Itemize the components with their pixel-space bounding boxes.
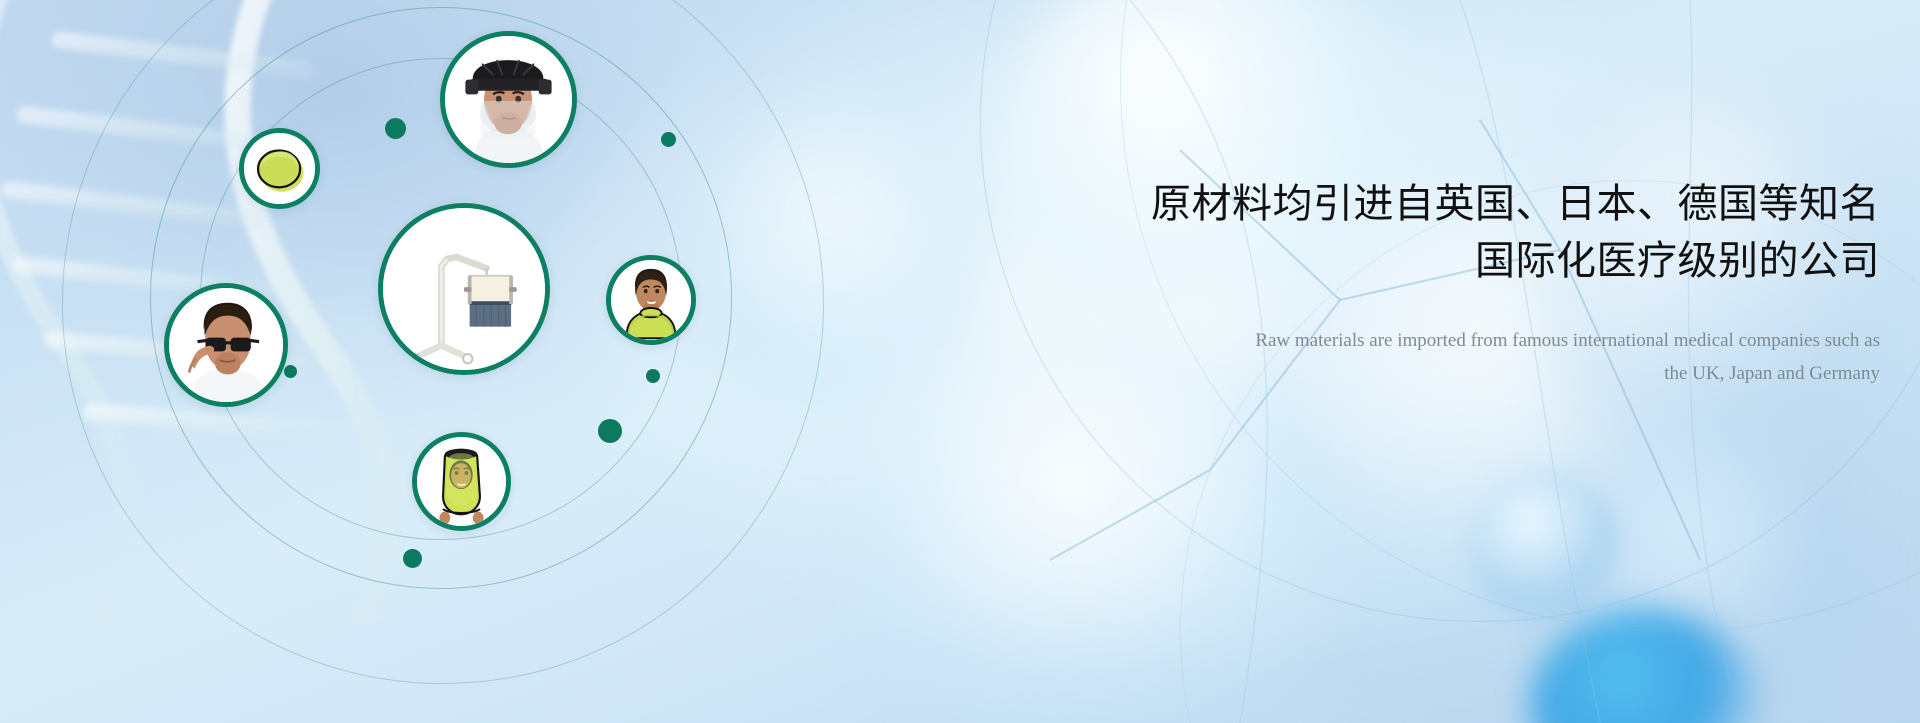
bubble-mobile-radiation-shield-stand[interactable] (378, 203, 550, 375)
woman-protective-hood-illustration (417, 437, 506, 526)
woman-thyroid-collar-illustration (611, 260, 691, 340)
bubble-yellow-protective-cap[interactable] (239, 128, 320, 209)
protective-cap-illustration (244, 133, 315, 204)
bubble-man-wearing-radiation-face-shield[interactable] (440, 31, 577, 168)
bubble-woman-wearing-protective-hood[interactable] (412, 432, 511, 531)
orbit-dot-3 (284, 365, 297, 378)
subhead-line-2: the UK, Japan and Germany (700, 357, 1880, 391)
headline-line-2: 国际化医疗级别的公司 (700, 233, 1880, 290)
subhead-line-1: Raw materials are imported from famous i… (1255, 330, 1880, 351)
molecule-sphere-accent (1530, 610, 1760, 723)
man-lead-glasses-illustration (169, 288, 283, 402)
man-face-shield-illustration (445, 36, 572, 163)
banner-subheadline: Raw materials are imported from famous i… (700, 324, 1880, 392)
radiation-shield-stand-illustration (383, 208, 545, 370)
hero-banner: 原材料均引进自英国、日本、德国等知名 国际化医疗级别的公司 Raw materi… (0, 0, 1920, 723)
banner-text-block: 原材料均引进自英国、日本、德国等知名 国际化医疗级别的公司 Raw materi… (700, 176, 1880, 391)
headline-line-1: 原材料均引进自英国、日本、德国等知名 (1151, 181, 1880, 227)
molecule-sphere-6 (1470, 470, 1620, 620)
banner-headline: 原材料均引进自英国、日本、德国等知名 国际化医疗级别的公司 (700, 176, 1880, 290)
orbit-dot-2 (661, 132, 676, 147)
orbit-dot-1 (385, 118, 406, 139)
bubble-man-wearing-lead-glasses[interactable] (164, 283, 288, 407)
orbit-dot-4 (646, 369, 660, 383)
bubble-woman-wearing-thyroid-collar[interactable] (606, 255, 696, 345)
molecule-sphere-5 (1560, 430, 1860, 723)
orbit-dot-5 (598, 419, 622, 443)
orbit-dot-6 (403, 549, 422, 568)
